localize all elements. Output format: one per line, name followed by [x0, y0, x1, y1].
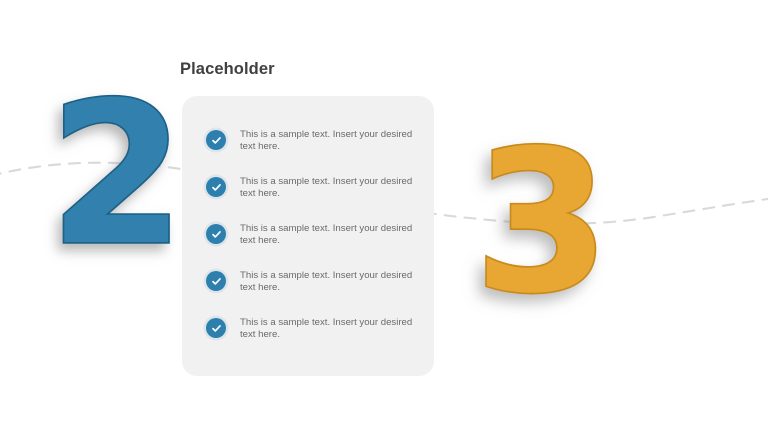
list-item-text: This is a sample text. Insert your desir… [240, 317, 421, 342]
step-number-two: 2 [52, 92, 182, 252]
check-circle-icon [206, 318, 226, 338]
svg-text:2: 2 [49, 61, 185, 289]
list-item-text: This is a sample text. Insert your desir… [240, 129, 421, 154]
list-item-text: This is a sample text. Insert your desir… [240, 176, 421, 201]
step-number-three: 3 [472, 138, 612, 303]
list-item: This is a sample text. Insert your desir… [206, 223, 421, 257]
list-item: This is a sample text. Insert your desir… [206, 270, 421, 304]
list-item-text: This is a sample text. Insert your desir… [240, 223, 421, 248]
list-item-text: This is a sample text. Insert your desir… [240, 270, 421, 295]
slide-canvas: 2 3 Placeholder This is a [0, 0, 768, 432]
check-circle-icon [206, 130, 226, 150]
page-title: Placeholder [180, 60, 275, 79]
check-circle-icon [206, 271, 226, 291]
list-item: This is a sample text. Insert your desir… [206, 176, 421, 210]
bullet-list: This is a sample text. Insert your desir… [182, 96, 434, 376]
check-circle-icon [206, 224, 226, 244]
check-circle-icon [206, 177, 226, 197]
list-item: This is a sample text. Insert your desir… [206, 129, 421, 163]
svg-text:3: 3 [474, 109, 610, 337]
list-item: This is a sample text. Insert your desir… [206, 317, 421, 351]
